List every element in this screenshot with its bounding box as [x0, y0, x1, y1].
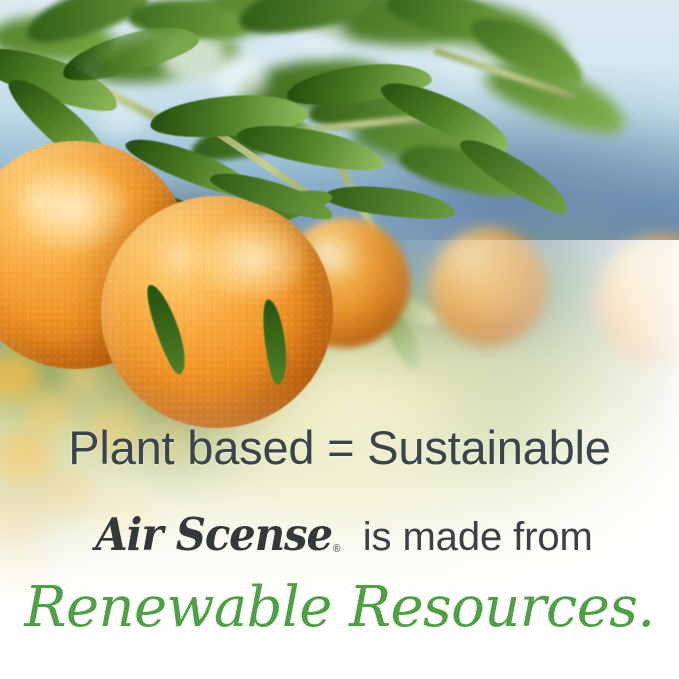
registered-trademark-icon: ®: [333, 543, 339, 555]
headline-plant-based: Plant based = Sustainable: [0, 424, 679, 472]
renewable-resources-text: Renewable Resources.: [0, 580, 679, 636]
brand-tagline-row: Air Scense®is made from: [0, 512, 679, 557]
brand-tagline-text: is made from: [363, 515, 593, 559]
promo-image-card: Plant based = Sustainable Air Scense®is …: [0, 0, 679, 679]
air-scense-logotype: Air Scense®: [95, 512, 339, 557]
